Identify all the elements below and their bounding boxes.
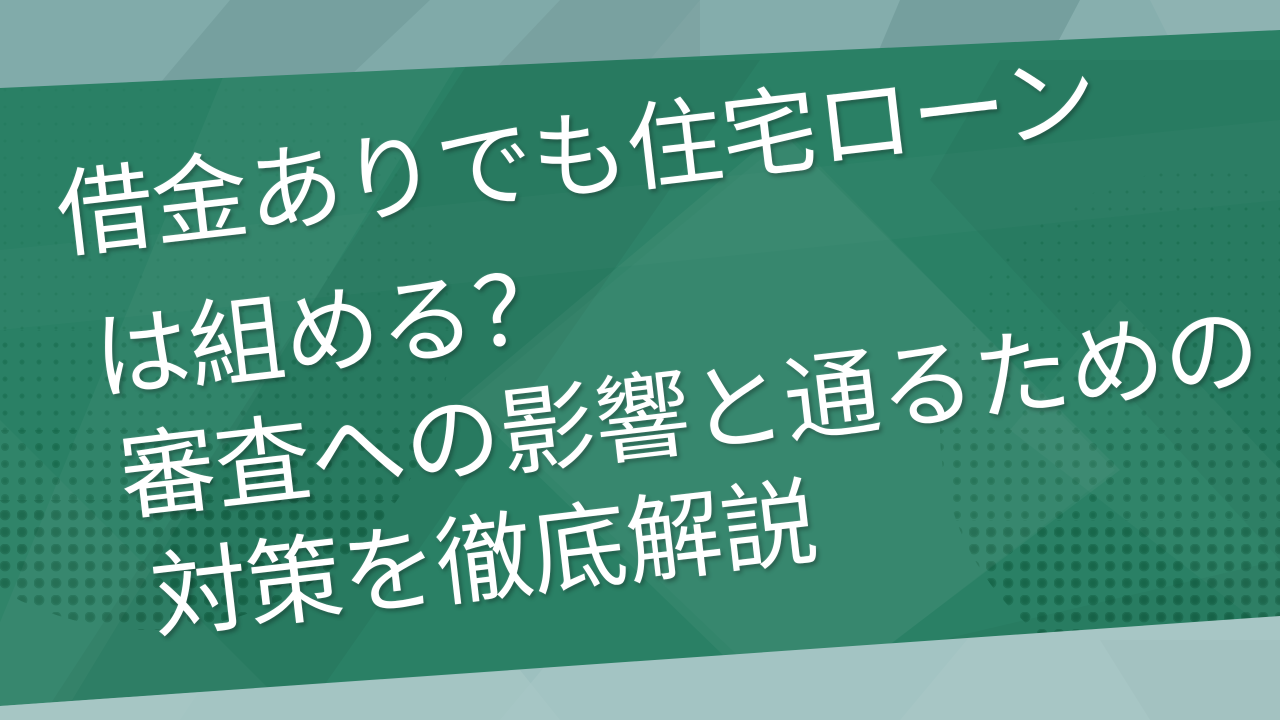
title-line-1: 借金ありでも住宅ローン bbox=[52, 50, 1102, 266]
title-card-canvas: 借金ありでも住宅ローン は組める？ 審査への影響と通るための 対策を徹底解説 bbox=[0, 0, 1280, 720]
slide-title: 借金ありでも住宅ローン は組める？ 審査への影響と通るための 対策を徹底解説 bbox=[0, 0, 1280, 720]
